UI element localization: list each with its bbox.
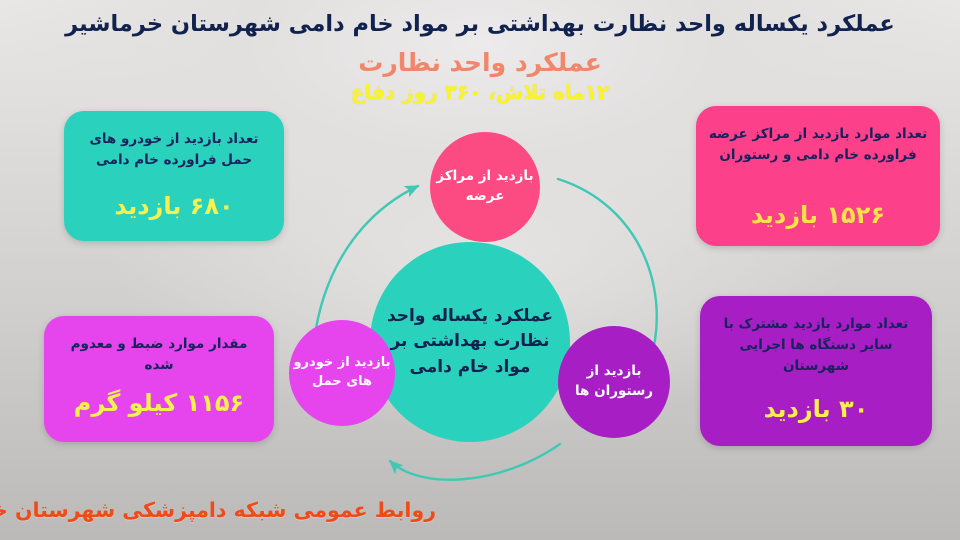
arrow-restaurant-to-transport <box>390 444 560 480</box>
diagram-node-supply: بازدید از مراکز عرضه <box>430 132 540 242</box>
infographic-canvas: عملکرد یکساله واحد نظارت بهداشتی بر مواد… <box>0 0 960 540</box>
diagram-center-circle: عملکرد یکساله واحد نظارت بهداشتی بر مواد… <box>370 242 570 442</box>
diagram-node-restaurant: بازدید از رستوران ها <box>558 326 670 438</box>
diagram-node-restaurant-label: بازدید از رستوران ها <box>558 362 670 401</box>
diagram-node-supply-label: بازدید از مراکز عرضه <box>430 167 540 206</box>
diagram-node-transport: بازدید از خودرو های حمل <box>289 320 395 426</box>
diagram-center-label: عملکرد یکساله واحد نظارت بهداشتی بر مواد… <box>370 304 570 381</box>
diagram-node-transport-label: بازدید از خودرو های حمل <box>289 354 395 392</box>
